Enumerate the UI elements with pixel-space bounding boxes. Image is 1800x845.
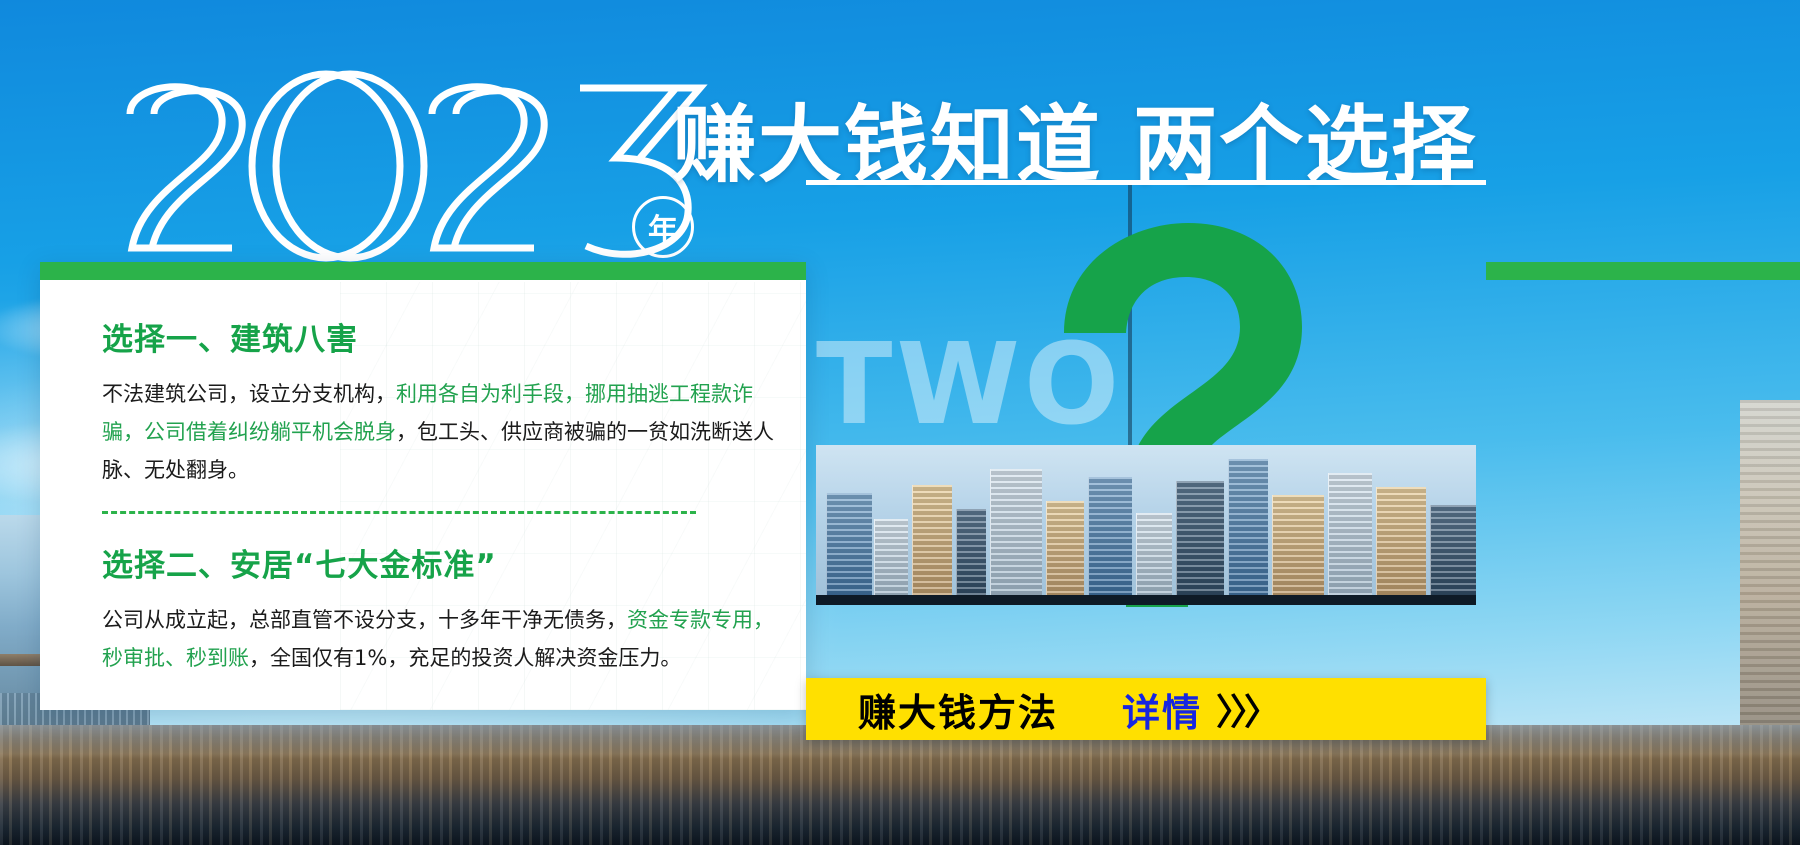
building (1228, 459, 1268, 605)
cta-bar[interactable]: 赚大钱方法 详情 〉〉〉 (806, 678, 1486, 740)
photo-baseline (816, 595, 1476, 605)
building (1046, 501, 1084, 605)
right-panel-top-rule (806, 180, 1486, 185)
promo-banner: 年 赚大钱知道 两个选择 选择一、建筑八害 不法建筑公司，设立分支机构，利用各自… (0, 0, 1800, 845)
year-suffix-badge: 年 (632, 196, 694, 258)
section-1-text-a: 不法建筑公司，设立分支机构， (102, 382, 396, 406)
section-divider (102, 511, 696, 514)
section-2-text-c: ，全国仅有1%，充足的投资人解决资金压力。 (249, 646, 681, 670)
building (874, 519, 908, 605)
right-photo-strip (1740, 400, 1800, 725)
green-accent-bar-right (1486, 262, 1800, 280)
building (1176, 481, 1224, 605)
section-1-body: 不法建筑公司，设立分支机构，利用各自为利手段，挪用抽逃工程款诈骗，公司借着纠纷躺… (102, 375, 792, 489)
section-2-body: 公司从成立起，总部直管不设分支，十多年干净无债务，资金专款专用，秒审批、秒到账，… (102, 601, 792, 677)
section-2-title: 选择二、安居“七大金标准” (102, 540, 776, 585)
building (956, 509, 986, 605)
section-1-title: 选择一、建筑八害 (102, 314, 776, 359)
right-visual-panel: TWO CHOICES (806, 185, 1486, 680)
content-card: 选择一、建筑八害 不法建筑公司，设立分支机构，利用各自为利手段，挪用抽逃工程款诈… (40, 262, 806, 710)
bottom-cityscape-strip (0, 725, 1800, 845)
building (826, 493, 872, 605)
chevron-right-triple-icon: 〉〉〉 (1216, 683, 1276, 735)
cta-main-label: 赚大钱方法 (858, 682, 1058, 737)
section-2-text-a: 公司从成立起，总部直管不设分支，十多年干净无债务， (102, 608, 627, 632)
building (1376, 487, 1426, 605)
building (1136, 513, 1172, 605)
building (1272, 495, 1324, 605)
building (990, 469, 1042, 605)
building (1430, 505, 1476, 605)
building (1088, 477, 1132, 605)
cityscape-photo (816, 445, 1476, 605)
building (1328, 473, 1372, 605)
cta-detail-link[interactable]: 详情 (1122, 682, 1202, 737)
building (912, 485, 952, 605)
